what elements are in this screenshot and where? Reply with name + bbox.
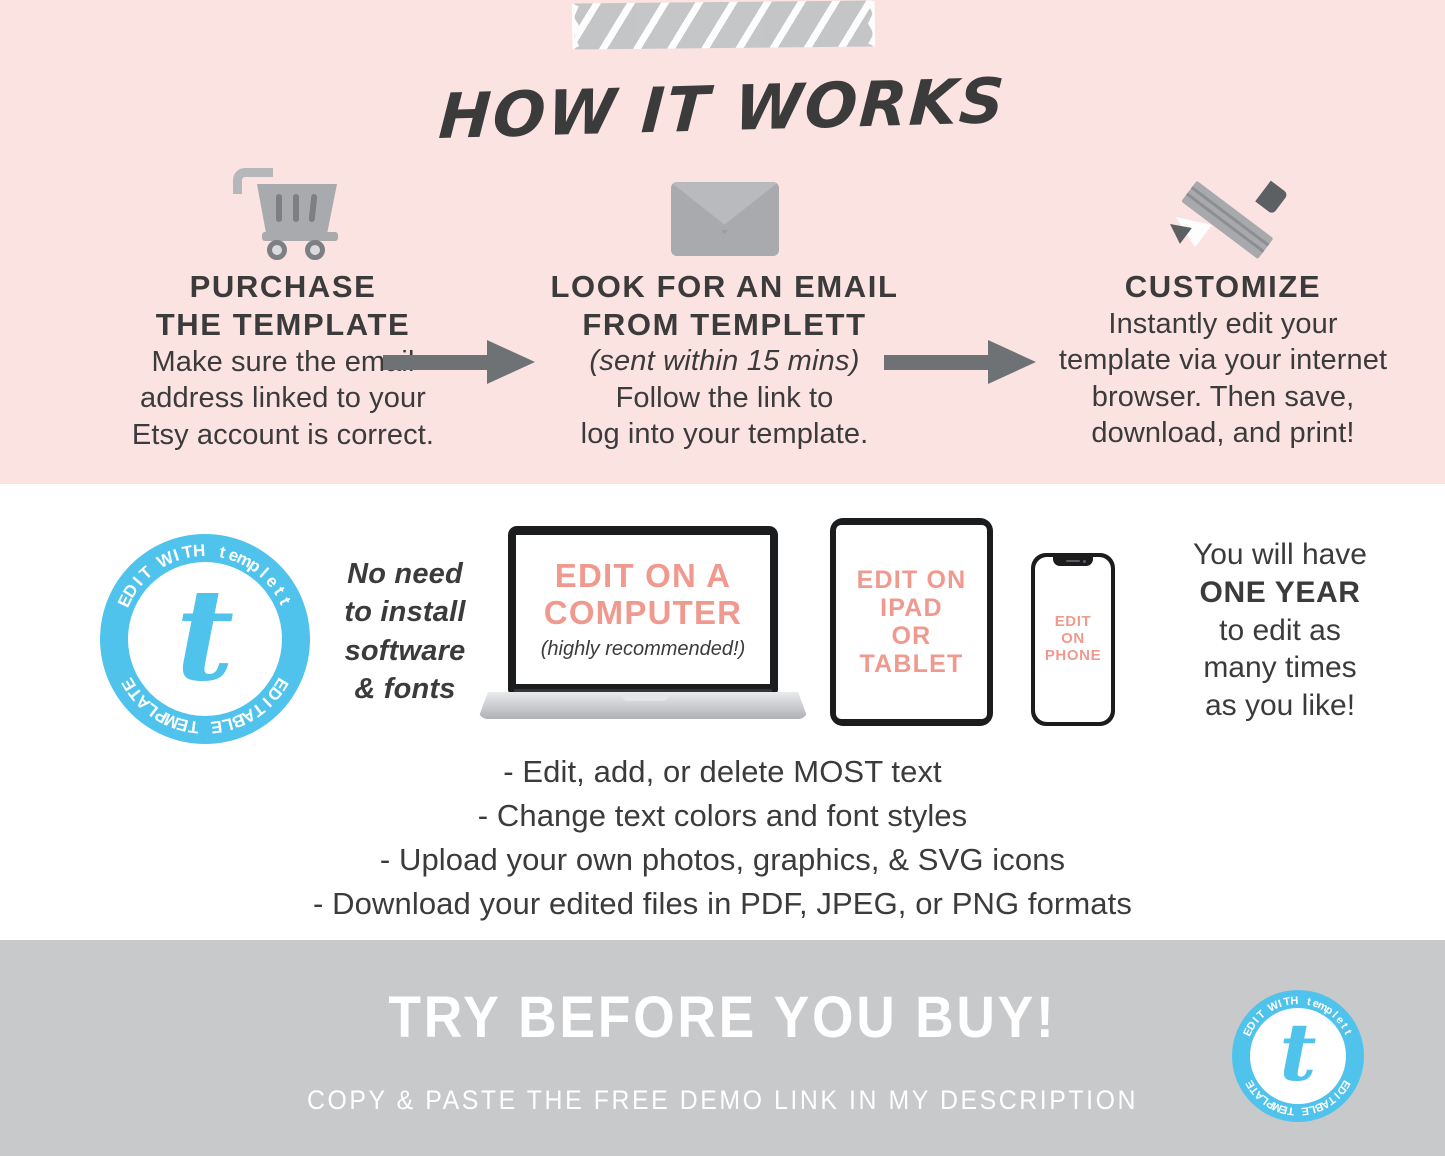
step-body-line1: Instantly edit your [1003, 306, 1443, 343]
laptop-screen-title: EDIT ON A COMPUTER [544, 558, 742, 632]
step-title-line2: FROM TEMPLETT [497, 306, 952, 344]
step-body: Instantly edit your template via your in… [1003, 306, 1443, 452]
laptop-title-line1: EDIT ON A [544, 558, 742, 595]
tablet-title-line2: IPAD [857, 594, 967, 622]
step-body-line2: address linked to your [58, 380, 508, 417]
step-title-line1: CUSTOMIZE [1003, 268, 1443, 306]
laptop-screen-subtitle: (highly recommended!) [541, 638, 746, 661]
step-body-line3: Etsy account is correct. [58, 417, 508, 454]
phone-title-line1: EDIT [1045, 614, 1101, 631]
tablet-device: EDIT ON IPAD OR TABLET [830, 518, 993, 726]
laptop-title-line2: COMPUTER [544, 595, 742, 632]
arrow-right-icon [884, 340, 1036, 384]
step-title: LOOK FOR AN EMAIL FROM TEMPLETT [497, 268, 952, 344]
phone-speaker-icon [1066, 560, 1080, 562]
step-purchase: PURCHASE THE TEMPLATE Make sure the emai… [58, 148, 508, 453]
list-item: - Edit, add, or delete MOST text [0, 750, 1445, 794]
templett-badge: t EDIT WITH templettEDITABLE TEMPLATE [1232, 990, 1364, 1122]
arrow-right-icon [383, 340, 535, 384]
envelope-icon [497, 148, 952, 256]
step-title: PURCHASE THE TEMPLATE [58, 268, 508, 344]
how-it-works-panel: HOW IT WORKS PURCHASE THE TEMPLA [0, 0, 1445, 484]
step-body-line4: download, and print! [1003, 415, 1443, 452]
infographic-page: HOW IT WORKS PURCHASE THE TEMPLA [0, 0, 1445, 1156]
pencil-icon [1003, 148, 1443, 256]
one-year-line4: many times [1125, 649, 1435, 687]
step-customize: CUSTOMIZE Instantly edit your template v… [1003, 148, 1443, 452]
one-year-line3: to edit as [1125, 612, 1435, 650]
step-body: Follow the link to log into your templat… [497, 380, 952, 453]
feature-list: - Edit, add, or delete MOST text - Chang… [0, 750, 1445, 926]
step-title-line1: LOOK FOR AN EMAIL [497, 268, 952, 306]
one-year-highlight: ONE YEAR [1200, 576, 1361, 609]
tablet-title-line3: OR [857, 622, 967, 650]
steps-container: PURCHASE THE TEMPLATE Make sure the emai… [0, 148, 1445, 478]
no-need-line4: & fonts [330, 670, 480, 708]
step-title-line2: THE TEMPLATE [58, 306, 508, 344]
step-title: CUSTOMIZE [1003, 268, 1443, 306]
tablet-title-line4: TABLET [857, 650, 967, 678]
one-year-line1: You will have [1125, 536, 1435, 574]
no-need-line1: No need [330, 555, 480, 593]
list-item: - Download your edited files in PDF, JPE… [0, 882, 1445, 926]
templett-badge: t EDIT WITH templettEDITABLE TEMPLATE [100, 534, 310, 744]
phone-title-line2: ON [1045, 631, 1101, 648]
washi-tape-icon [575, 0, 872, 49]
phone-screen-title: EDIT ON PHONE [1045, 614, 1101, 664]
list-item: - Upload your own photos, graphics, & SV… [0, 838, 1445, 882]
step-look-for-email: LOOK FOR AN EMAIL FROM TEMPLETT (sent wi… [497, 148, 952, 453]
phone-device: EDIT ON PHONE [1031, 553, 1115, 726]
phone-camera-icon [1083, 560, 1086, 563]
one-year-line5: as you like! [1125, 687, 1435, 725]
banner-subtitle: COPY & PASTE THE FREE DEMO LINK IN MY DE… [58, 1085, 1387, 1116]
shopping-cart-icon [58, 148, 508, 256]
list-item: - Change text colors and font styles [0, 794, 1445, 838]
step-body-line2: log into your template. [497, 416, 952, 453]
tablet-title-line1: EDIT ON [857, 566, 967, 594]
laptop-device: EDIT ON A COMPUTER (highly recommended!) [478, 526, 808, 726]
step-body-line1: Follow the link to [497, 380, 952, 417]
banner-title: TRY BEFORE YOU BUY! [58, 984, 1387, 1051]
phone-title-line3: PHONE [1045, 648, 1101, 665]
step-body-line3: browser. Then save, [1003, 379, 1443, 416]
tablet-screen-title: EDIT ON IPAD OR TABLET [857, 566, 967, 678]
step-title-line1: PURCHASE [58, 268, 508, 306]
step-body-line2: template via your internet [1003, 342, 1443, 379]
no-need-text: No need to install software & fonts [330, 555, 480, 708]
no-need-line3: software [330, 632, 480, 670]
one-year-text: You will have ONE YEAR to edit as many t… [1125, 536, 1435, 725]
no-need-line2: to install [330, 593, 480, 631]
